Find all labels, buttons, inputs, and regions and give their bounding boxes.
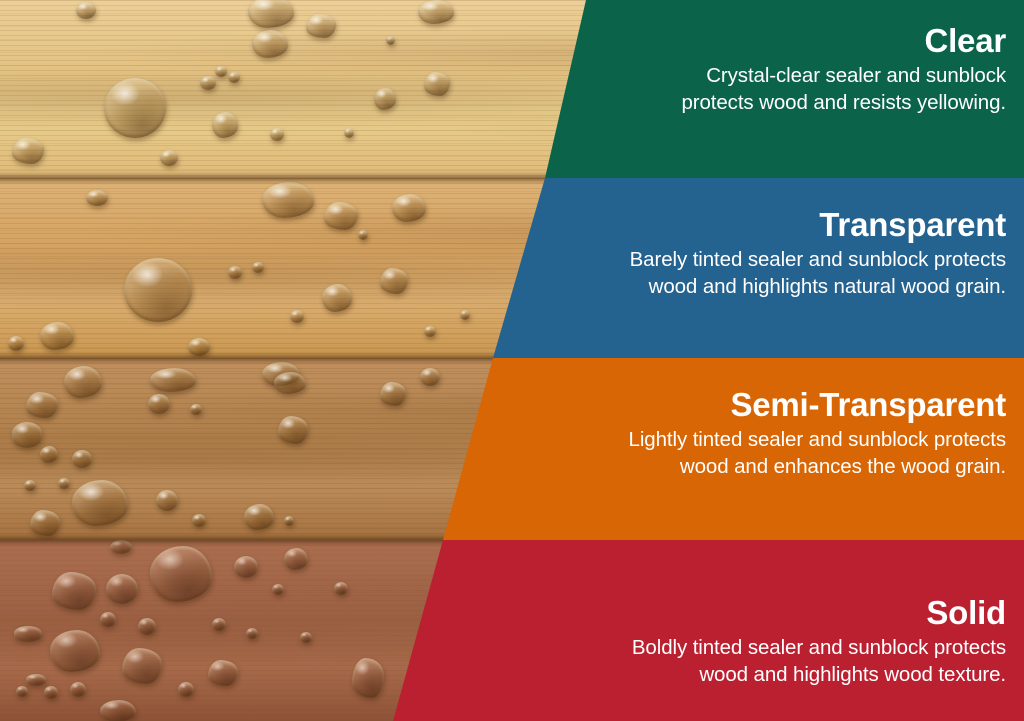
water-droplet bbox=[138, 618, 156, 635]
water-droplet bbox=[290, 310, 304, 323]
water-droplet bbox=[150, 546, 212, 602]
water-droplet bbox=[386, 36, 395, 45]
water-droplet bbox=[246, 628, 258, 639]
water-droplet bbox=[40, 446, 58, 463]
water-droplet bbox=[8, 336, 24, 351]
water-droplet bbox=[200, 76, 216, 90]
water-droplet bbox=[122, 648, 162, 684]
water-droplet bbox=[26, 392, 58, 418]
water-droplet bbox=[424, 72, 450, 96]
water-droplet bbox=[392, 194, 426, 222]
water-droplet bbox=[14, 626, 42, 642]
panel-title-semi-transparent: Semi-Transparent bbox=[486, 388, 1006, 422]
water-droplet bbox=[324, 202, 358, 230]
water-droplet bbox=[334, 582, 348, 595]
water-droplet bbox=[262, 182, 314, 218]
water-droplet bbox=[215, 66, 227, 77]
panel-desc-line-2: wood and highlights wood texture. bbox=[486, 662, 1006, 689]
water-droplet bbox=[284, 516, 294, 526]
water-droplet bbox=[50, 630, 100, 672]
water-droplet bbox=[190, 404, 202, 415]
water-droplet bbox=[12, 422, 42, 448]
water-droplet bbox=[212, 112, 238, 138]
water-droplet bbox=[374, 88, 396, 110]
water-droplet bbox=[40, 322, 74, 350]
panel-description-solid: Boldly tinted sealer and sunblock protec… bbox=[486, 635, 1006, 688]
water-droplet bbox=[212, 618, 226, 631]
water-droplet bbox=[70, 682, 86, 697]
water-droplet bbox=[252, 262, 264, 273]
water-droplet bbox=[228, 266, 242, 279]
water-droplet bbox=[244, 504, 274, 530]
water-droplet bbox=[248, 0, 294, 28]
water-droplet bbox=[460, 310, 470, 320]
water-droplet bbox=[192, 514, 206, 527]
water-droplet bbox=[270, 128, 284, 141]
water-droplet bbox=[300, 632, 312, 643]
water-droplet bbox=[124, 258, 192, 322]
panel-desc-line-2: wood and highlights natural wood grain. bbox=[486, 274, 1006, 301]
water-droplet bbox=[64, 366, 102, 398]
water-droplet bbox=[76, 2, 96, 19]
water-droplet bbox=[26, 674, 46, 686]
panel-description-transparent: Barely tinted sealer and sunblock protec… bbox=[486, 247, 1006, 300]
stain-opacity-infographic: Clear Crystal-clear sealer and sunblock … bbox=[0, 0, 1024, 721]
water-droplet bbox=[156, 490, 178, 511]
panel-description-semi-transparent: Lightly tinted sealer and sunblock prote… bbox=[486, 427, 1006, 480]
water-droplet bbox=[72, 480, 128, 526]
water-droplet bbox=[52, 572, 96, 610]
water-droplet bbox=[272, 584, 284, 595]
water-droplet bbox=[12, 138, 44, 164]
water-droplet bbox=[16, 686, 28, 697]
water-droplet bbox=[274, 372, 306, 394]
water-droplet bbox=[72, 450, 92, 468]
water-droplet bbox=[278, 416, 308, 444]
water-droplet bbox=[380, 382, 406, 406]
water-droplet bbox=[306, 14, 336, 38]
water-droplet bbox=[358, 230, 368, 240]
panel-desc-line-1: Crystal-clear sealer and sunblock bbox=[706, 64, 1006, 87]
water-droplet bbox=[24, 480, 36, 491]
water-droplet bbox=[380, 268, 408, 294]
water-droplet bbox=[100, 612, 116, 627]
water-droplet bbox=[86, 190, 108, 206]
water-droplet bbox=[208, 660, 238, 686]
water-droplet bbox=[160, 150, 178, 166]
water-droplet bbox=[424, 326, 436, 337]
water-droplet bbox=[44, 686, 58, 699]
water-droplet bbox=[148, 394, 170, 414]
water-droplet bbox=[150, 368, 196, 392]
water-droplet bbox=[352, 658, 384, 698]
water-droplet bbox=[322, 284, 352, 312]
panel-title-transparent: Transparent bbox=[486, 208, 1006, 242]
water-droplet bbox=[234, 556, 258, 578]
water-droplet bbox=[104, 78, 166, 138]
panel-desc-line-2: wood and enhances the wood grain. bbox=[486, 454, 1006, 481]
water-droplet bbox=[58, 478, 70, 489]
water-droplet bbox=[284, 548, 308, 570]
water-droplet bbox=[228, 72, 240, 83]
water-droplet bbox=[178, 682, 194, 697]
water-droplet bbox=[420, 368, 440, 386]
panel-title-solid: Solid bbox=[486, 596, 1006, 630]
water-droplet bbox=[100, 700, 136, 721]
water-droplet bbox=[344, 128, 354, 138]
water-droplet bbox=[252, 30, 288, 58]
panel-desc-line-1: Boldly tinted sealer and sunblock protec… bbox=[632, 636, 1006, 659]
water-droplet bbox=[106, 574, 138, 604]
water-droplet bbox=[418, 0, 454, 24]
panel-desc-line-1: Barely tinted sealer and sunblock protec… bbox=[630, 248, 1006, 271]
panel-desc-line-1: Lightly tinted sealer and sunblock prote… bbox=[629, 428, 1006, 451]
